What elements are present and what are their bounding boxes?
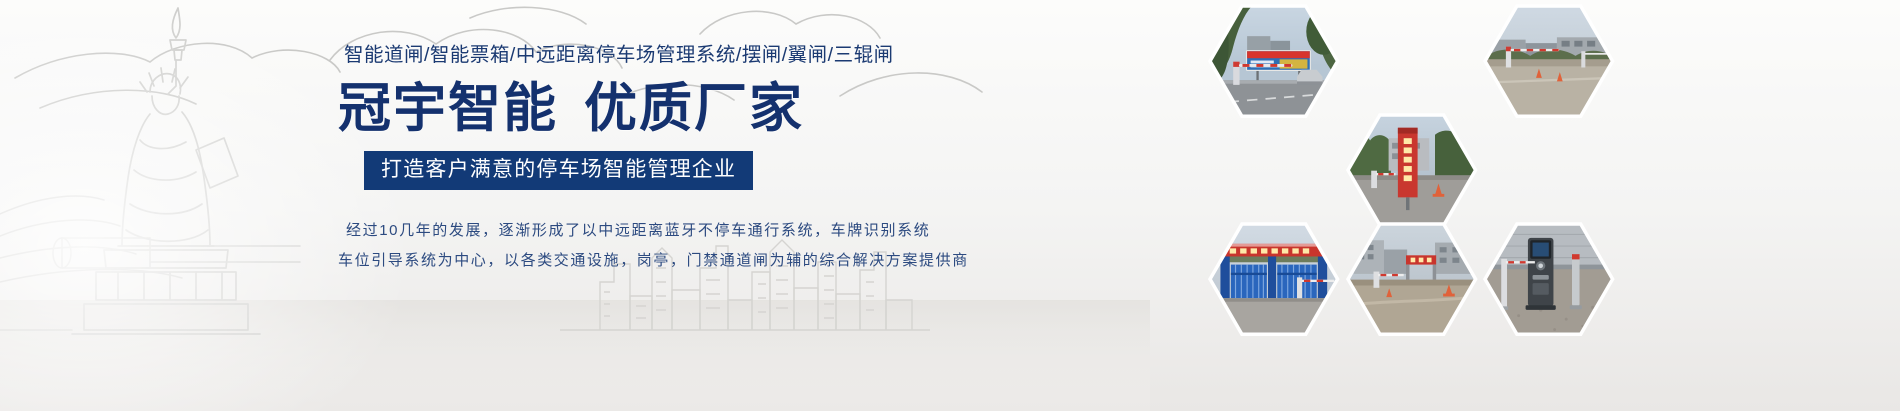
collage-photo-parking-lot-barrier-gate-wide [1485,6,1613,116]
product-tagline: 智能道闸/智能票箱/中远距离停车场管理系统/摆闸/翼闸/三辊闸 [344,42,938,68]
collage-photo-red-blue-entrance-gatehouse [1210,224,1338,334]
collage-photo-barrier-gate-roadside-billboard [1210,6,1341,116]
badge-row: 打造客户满意的停车场智能管理企业 [364,151,938,190]
description-line-1: 经过10几年的发展，逐渐形成了以中远距离蓝牙不停车通行系统，车牌识别系统 [346,216,938,246]
headline-part-1: 冠宇智能 [338,79,558,138]
collage-photo-construction-site-barrier [1348,224,1476,334]
headline-text-block: 智能道闸/智能票箱/中远距离停车场管理系统/摆闸/翼闸/三辊闸 冠宇智能优质厂家… [338,42,938,276]
headline-part-2: 优质厂家 [584,79,804,138]
main-headline: 冠宇智能优质厂家 [338,80,938,137]
promo-banner: 智能道闸/智能票箱/中远距离停车场管理系统/摆闸/翼闸/三辊闸 冠宇智能优质厂家… [0,0,1900,411]
description-paragraph: 经过10几年的发展，逐渐形成了以中远距离蓝牙不停车通行系统，车牌识别系统 车位引… [338,216,938,276]
description-line-2: 车位引导系统为中心，以各类交通设施，岗亭，门禁通道闸为辅的综合解决方案提供商 [338,246,938,276]
slogan-badge: 打造客户满意的停车场智能管理企业 [364,151,753,190]
hexagon-photo-collage [1200,0,1900,411]
collage-photo-payment-kiosk-terminal [1485,224,1613,334]
collage-photo-ticket-box-tall-banner [1348,115,1476,225]
